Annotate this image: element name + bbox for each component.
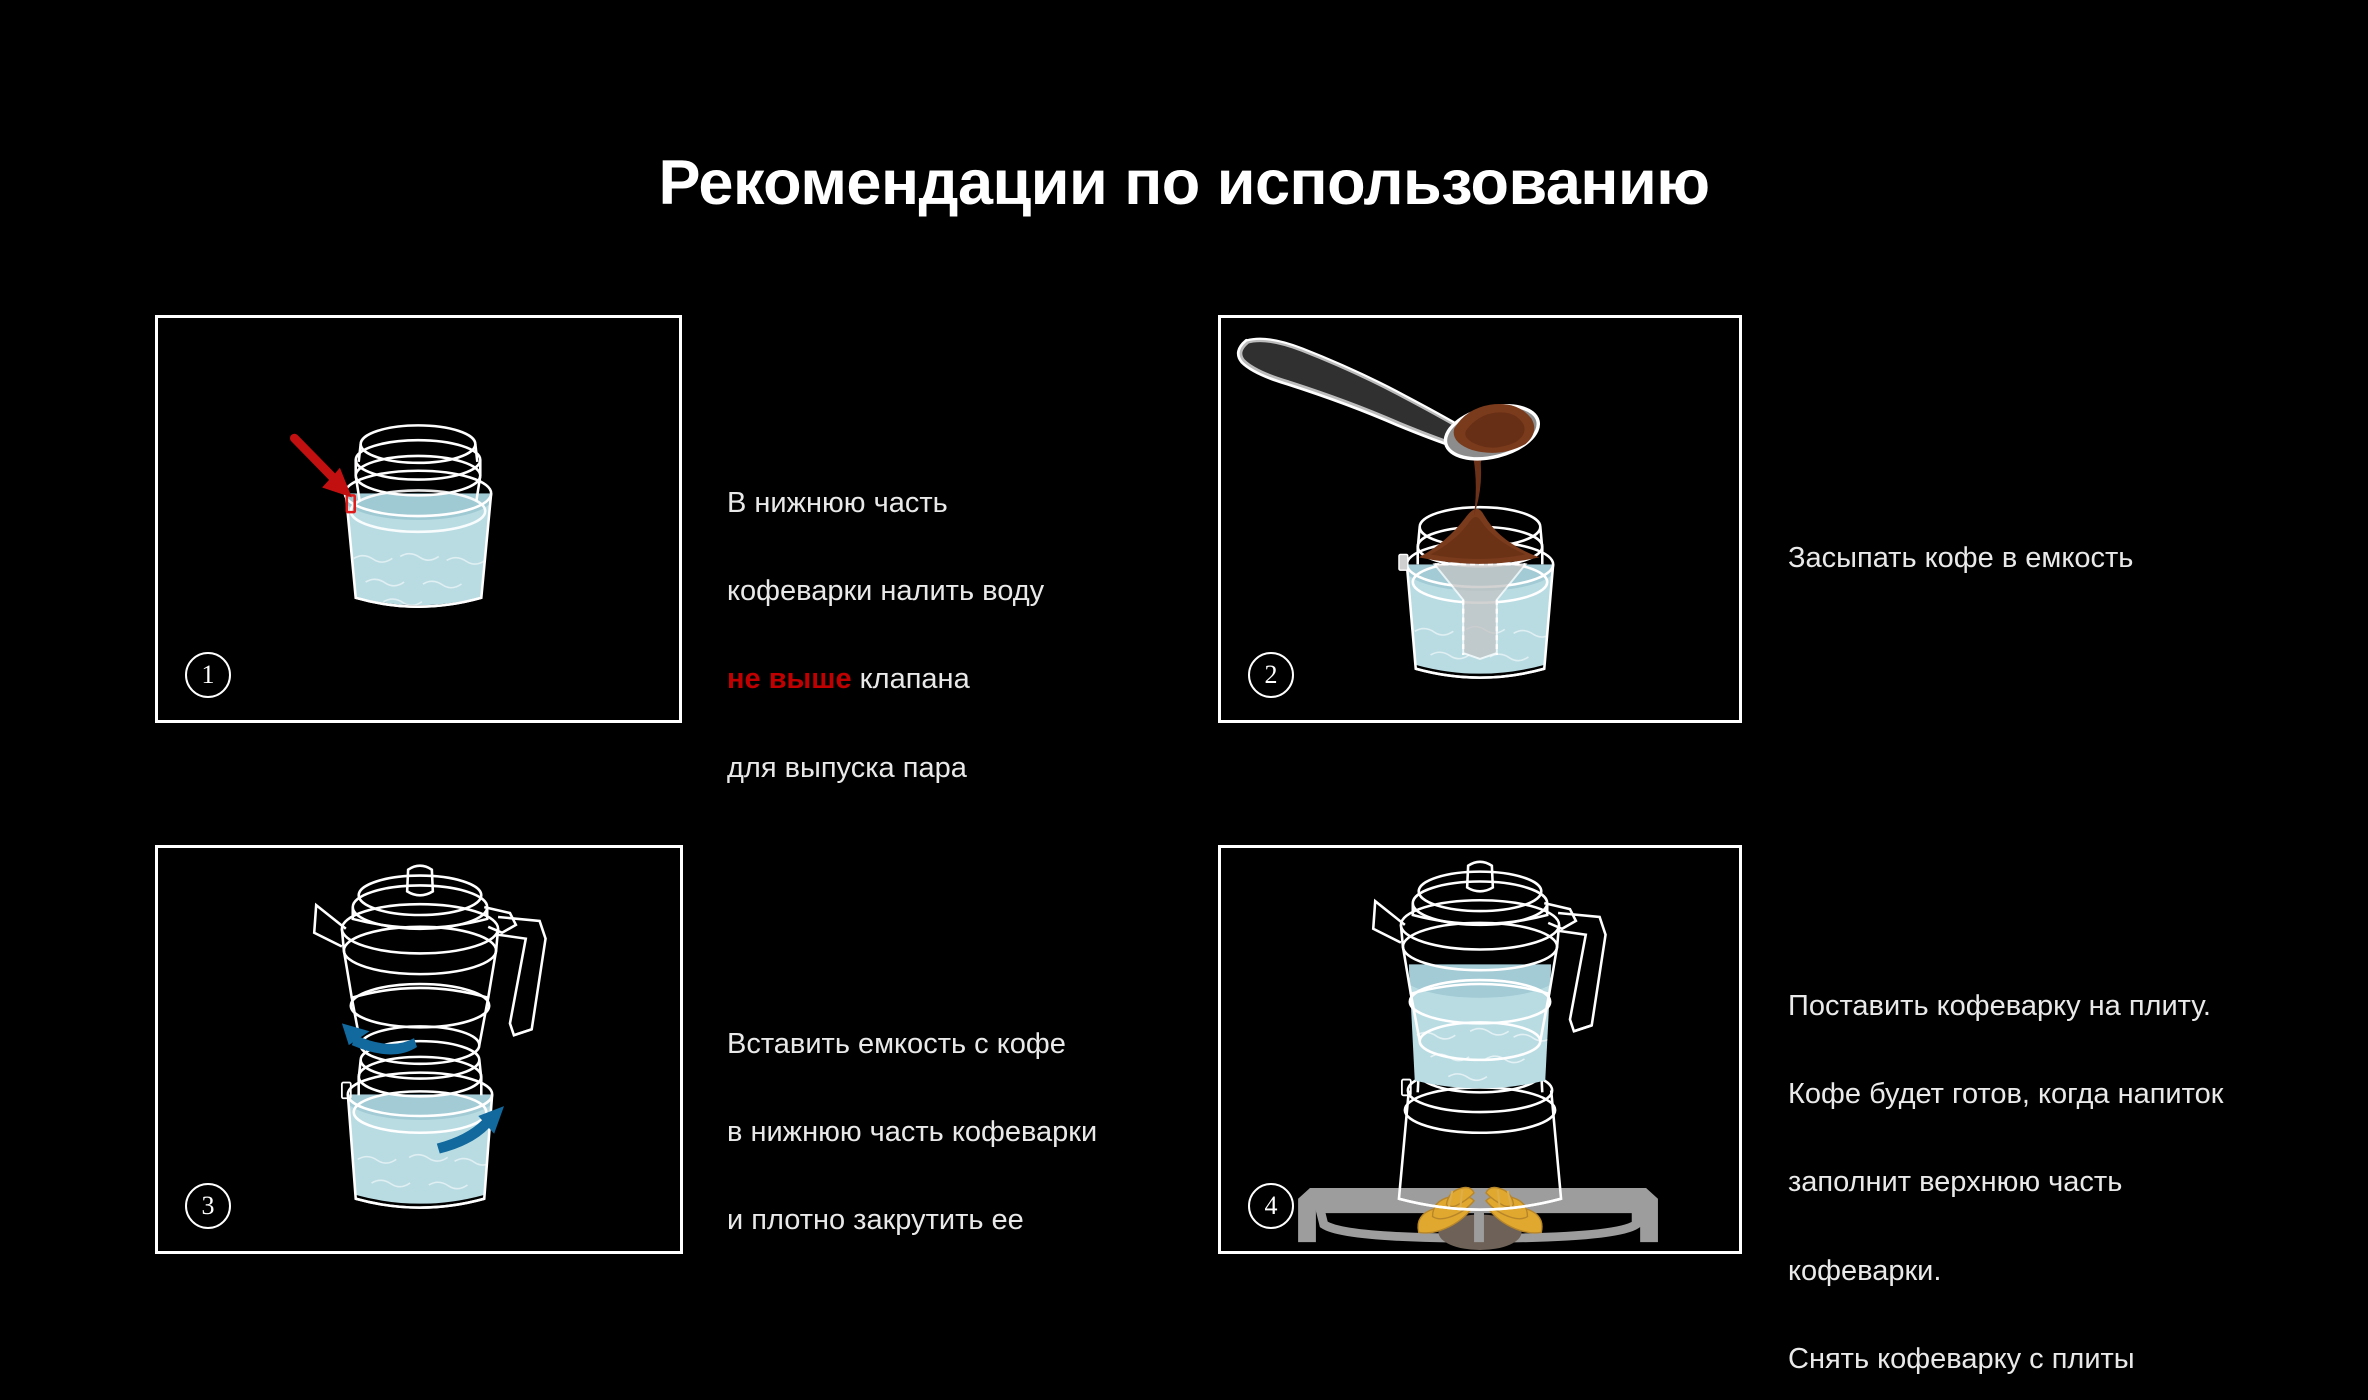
step-number-badge: 4 bbox=[1248, 1183, 1294, 1229]
caption-line: для выпуска пара bbox=[727, 746, 1157, 790]
step-number-badge: 1 bbox=[185, 652, 231, 698]
caption-emphasis: не выше bbox=[727, 663, 852, 695]
water-fill-icon bbox=[338, 475, 499, 624]
spoon-icon bbox=[1240, 340, 1544, 468]
caption-line: Снять кофеварку с плиты bbox=[1788, 1337, 2308, 1381]
step-2-caption: Засыпать кофе в емкость bbox=[1788, 492, 2248, 624]
caption-line: не выше клапана bbox=[727, 657, 1157, 701]
caption-line: и плотно закрутить ее bbox=[727, 1198, 1177, 1242]
caption-line: заполнит верхнюю часть bbox=[1788, 1160, 2308, 1204]
step-4-illustration-panel: 4 bbox=[1218, 845, 1742, 1254]
step-number-badge: 2 bbox=[1248, 652, 1294, 698]
heat-on-stove-illustration bbox=[1221, 848, 1739, 1251]
assemble-pot-illustration bbox=[158, 848, 680, 1251]
step-1-caption: В нижнюю часть кофеварки налить воду не … bbox=[727, 437, 1157, 834]
upper-chamber-icon bbox=[314, 866, 498, 1064]
caption-line-rest: клапана bbox=[852, 663, 970, 695]
add-coffee-illustration bbox=[1221, 318, 1739, 720]
step-1-illustration-panel: 1 bbox=[155, 315, 682, 723]
step-number-badge: 3 bbox=[185, 1183, 231, 1229]
caption-line: Поставить кофеварку на плиту. bbox=[1788, 984, 2308, 1028]
page-title: Рекомендации по использованию bbox=[0, 152, 2368, 215]
caption-line: Кофе будет готов, когда напиток bbox=[1788, 1072, 2308, 1116]
step-3-caption: Вставить емкость с кофе в нижнюю часть к… bbox=[727, 978, 1177, 1287]
pour-water-illustration bbox=[158, 318, 679, 720]
coffee-grounds-icon bbox=[1419, 509, 1540, 564]
caption-line: в нижнюю часть кофеварки bbox=[727, 1110, 1177, 1154]
red-arrow-icon bbox=[294, 438, 351, 497]
caption-line: В нижнюю часть bbox=[727, 481, 1157, 525]
gas-burner-icon bbox=[1298, 1188, 1658, 1250]
steam-valve-icon bbox=[1399, 554, 1408, 570]
caption-line: кофеварки. bbox=[1788, 1249, 2308, 1293]
caption-line: Вставить емкость с кофе bbox=[727, 1022, 1177, 1066]
step-4-caption: Поставить кофеварку на плиту. Кофе будет… bbox=[1788, 940, 2308, 1400]
caption-line: Засыпать кофе в емкость bbox=[1788, 536, 2248, 580]
step-3-illustration-panel: 3 bbox=[155, 845, 683, 1254]
caption-line: кофеварки налить воду bbox=[727, 569, 1157, 613]
step-2-illustration-panel: 2 bbox=[1218, 315, 1742, 723]
